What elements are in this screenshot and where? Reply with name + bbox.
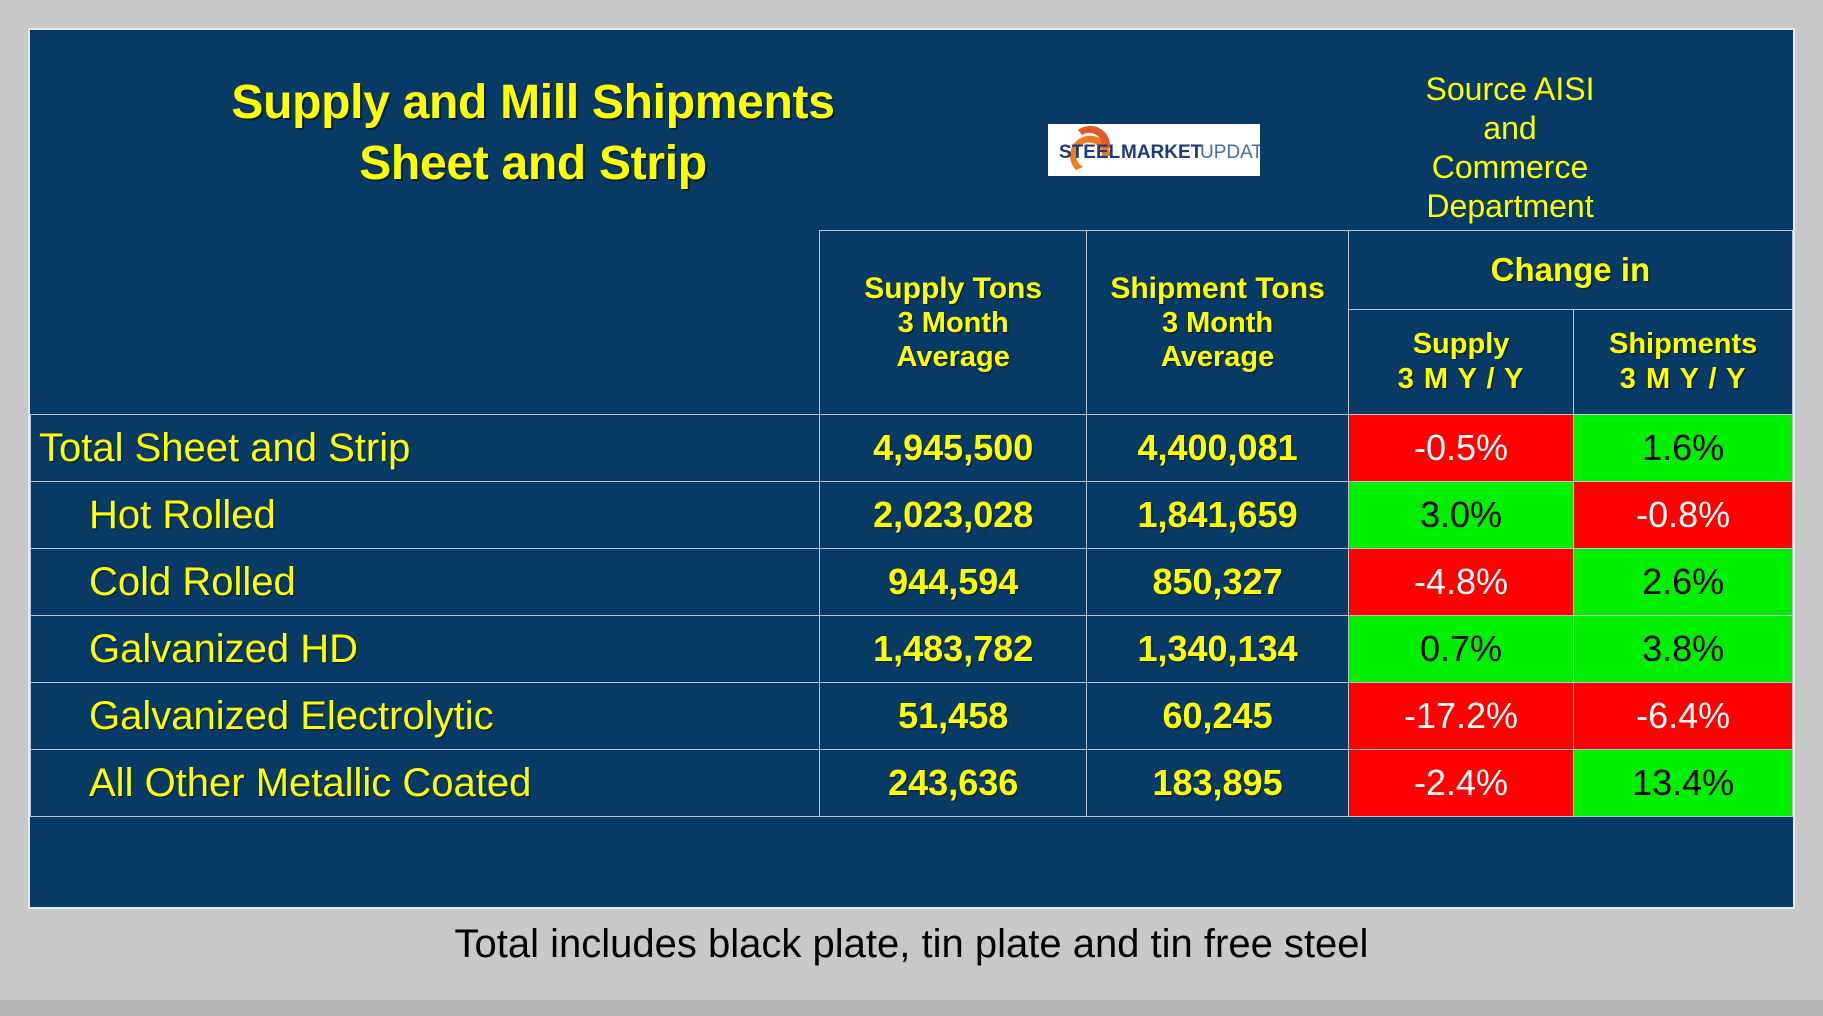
logo-artwork: STEEL MARKET UPDATE [1048, 124, 1260, 176]
cell-change-supply: 0.7% [1348, 616, 1573, 683]
supply-shipments-table: Supply Tons 3 Month Average Shipment Ton… [30, 230, 1793, 817]
table-panel: Supply and Mill Shipments Sheet and Stri… [28, 28, 1795, 909]
cell-shipment-tons: 183,895 [1087, 750, 1349, 817]
source-note: Source AISI and Commerce Department [1370, 70, 1650, 226]
footnote-caption: Total includes black plate, tin plate an… [0, 922, 1823, 967]
source-note-line-2: and [1370, 109, 1650, 148]
source-note-line-3: Commerce [1370, 148, 1650, 187]
table-row: All Other Metallic Coated243,636183,895-… [31, 750, 1793, 817]
logo-word-steel: STEEL [1059, 142, 1121, 163]
column-header-change-supply: Supply 3 M Y / Y [1348, 310, 1573, 415]
cell-change-shipments: -6.4% [1574, 683, 1793, 750]
column-header-supply-tons: Supply Tons 3 Month Average [820, 231, 1087, 415]
column-header-change-supply-label: Supply [1413, 328, 1510, 360]
cell-supply-tons: 944,594 [820, 549, 1087, 616]
cell-shipment-tons: 1,340,134 [1087, 616, 1349, 683]
table-row: Cold Rolled944,594850,327-4.8%2.6% [31, 549, 1793, 616]
slide-canvas: Supply and Mill Shipments Sheet and Stri… [0, 0, 1823, 1016]
cell-change-supply: -4.8% [1348, 549, 1573, 616]
cell-shipment-tons: 1,841,659 [1087, 482, 1349, 549]
source-note-line-1: Source AISI [1370, 70, 1650, 109]
bottom-strip [0, 1000, 1823, 1016]
column-header-change-in: Change in [1348, 231, 1792, 310]
table-row: Galvanized HD1,483,7821,340,1340.7%3.8% [31, 616, 1793, 683]
cell-shipment-tons: 4,400,081 [1087, 415, 1349, 482]
table-head: Supply Tons 3 Month Average Shipment Ton… [31, 231, 1793, 415]
column-header-shipment-tons: Shipment Tons 3 Month Average [1087, 231, 1349, 415]
row-label: Hot Rolled [31, 482, 820, 549]
cell-shipment-tons: 60,245 [1087, 683, 1349, 750]
steel-market-update-logo: STEEL MARKET UPDATE [1048, 124, 1260, 176]
column-header-shipment-tons-sub2: Average [1087, 340, 1348, 374]
cell-supply-tons: 1,483,782 [820, 616, 1087, 683]
cell-supply-tons: 2,023,028 [820, 482, 1087, 549]
column-header-change-shipments-label: Shipments [1609, 328, 1757, 360]
source-note-line-4: Department [1370, 187, 1650, 226]
cell-supply-tons: 4,945,500 [820, 415, 1087, 482]
cell-change-shipments: 2.6% [1574, 549, 1793, 616]
logo-word-market: MARKET [1121, 142, 1203, 163]
cell-change-supply: -2.4% [1348, 750, 1573, 817]
column-header-change-supply-sub: 3 M Y / Y [1349, 362, 1573, 397]
table-row: Hot Rolled2,023,0281,841,6593.0%-0.8% [31, 482, 1793, 549]
column-header-change-shipments: Shipments 3 M Y / Y [1574, 310, 1793, 415]
cell-change-shipments: 3.8% [1574, 616, 1793, 683]
column-header-supply-tons-label: Supply Tons [864, 272, 1042, 305]
table-body: Total Sheet and Strip4,945,5004,400,081-… [31, 415, 1793, 817]
cell-change-shipments: 1.6% [1574, 415, 1793, 482]
cell-supply-tons: 243,636 [820, 750, 1087, 817]
title-line-1: Supply and Mill Shipments [68, 72, 998, 133]
row-label: Cold Rolled [31, 549, 820, 616]
cell-change-shipments: 13.4% [1574, 750, 1793, 817]
header-row-top: Supply Tons 3 Month Average Shipment Ton… [31, 231, 1793, 310]
column-header-shipment-tons-sub1: 3 Month [1087, 306, 1348, 340]
page-title: Supply and Mill Shipments Sheet and Stri… [68, 72, 998, 195]
column-header-supply-tons-sub2: Average [820, 340, 1086, 374]
cell-change-shipments: -0.8% [1574, 482, 1793, 549]
cell-shipment-tons: 850,327 [1087, 549, 1349, 616]
column-header-change-shipments-sub: 3 M Y / Y [1574, 362, 1792, 397]
cell-change-supply: -17.2% [1348, 683, 1573, 750]
row-label: All Other Metallic Coated [31, 750, 820, 817]
title-line-2: Sheet and Strip [68, 133, 998, 194]
row-label: Total Sheet and Strip [31, 415, 820, 482]
cell-supply-tons: 51,458 [820, 683, 1087, 750]
column-header-supply-tons-sub1: 3 Month [820, 306, 1086, 340]
table-row: Galvanized Electrolytic51,45860,245-17.2… [31, 683, 1793, 750]
table-corner-cell [31, 231, 820, 415]
row-label: Galvanized HD [31, 616, 820, 683]
logo-word-update: UPDATE [1200, 142, 1260, 163]
table-row: Total Sheet and Strip4,945,5004,400,081-… [31, 415, 1793, 482]
cell-change-supply: -0.5% [1348, 415, 1573, 482]
cell-change-supply: 3.0% [1348, 482, 1573, 549]
column-header-shipment-tons-label: Shipment Tons [1110, 272, 1324, 305]
row-label: Galvanized Electrolytic [31, 683, 820, 750]
